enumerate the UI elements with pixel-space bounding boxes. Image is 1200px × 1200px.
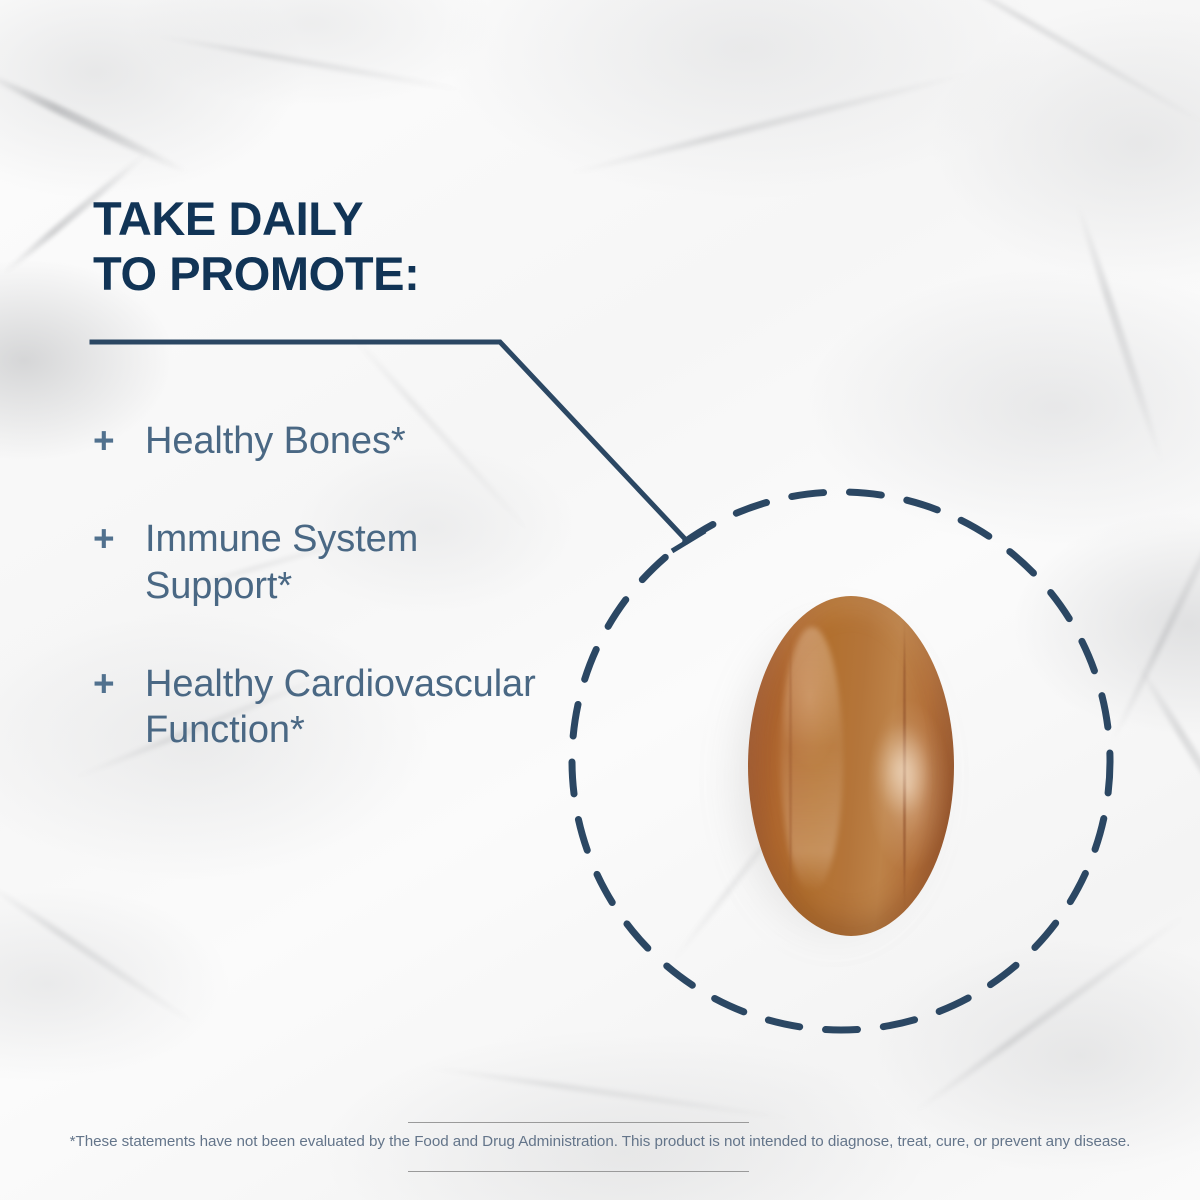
list-item: + Healthy Cardiovascular Function* [93,661,563,754]
capsule-body [748,596,954,936]
footer-divider-top [408,1122,749,1123]
benefit-label: Immune System Support* [145,516,563,609]
footer-divider-bottom [408,1171,749,1172]
benefit-label: Healthy Cardiovascular Function* [145,661,563,754]
fda-disclaimer: *These statements have not been evaluate… [0,1133,1200,1150]
benefit-label: Healthy Bones* [145,418,406,464]
softgel-capsule-icon [748,596,954,936]
list-item: + Immune System Support* [93,516,563,609]
list-item: + Healthy Bones* [93,418,563,464]
plus-icon: + [93,661,145,706]
benefits-list: + Healthy Bones* + Immune System Support… [93,418,563,806]
plus-icon: + [93,418,145,463]
promo-graphic: TAKE DAILY TO PROMOTE: + Healthy Bones* … [0,0,1200,1200]
plus-icon: + [93,516,145,561]
capsule-specular-highlight [876,725,930,813]
